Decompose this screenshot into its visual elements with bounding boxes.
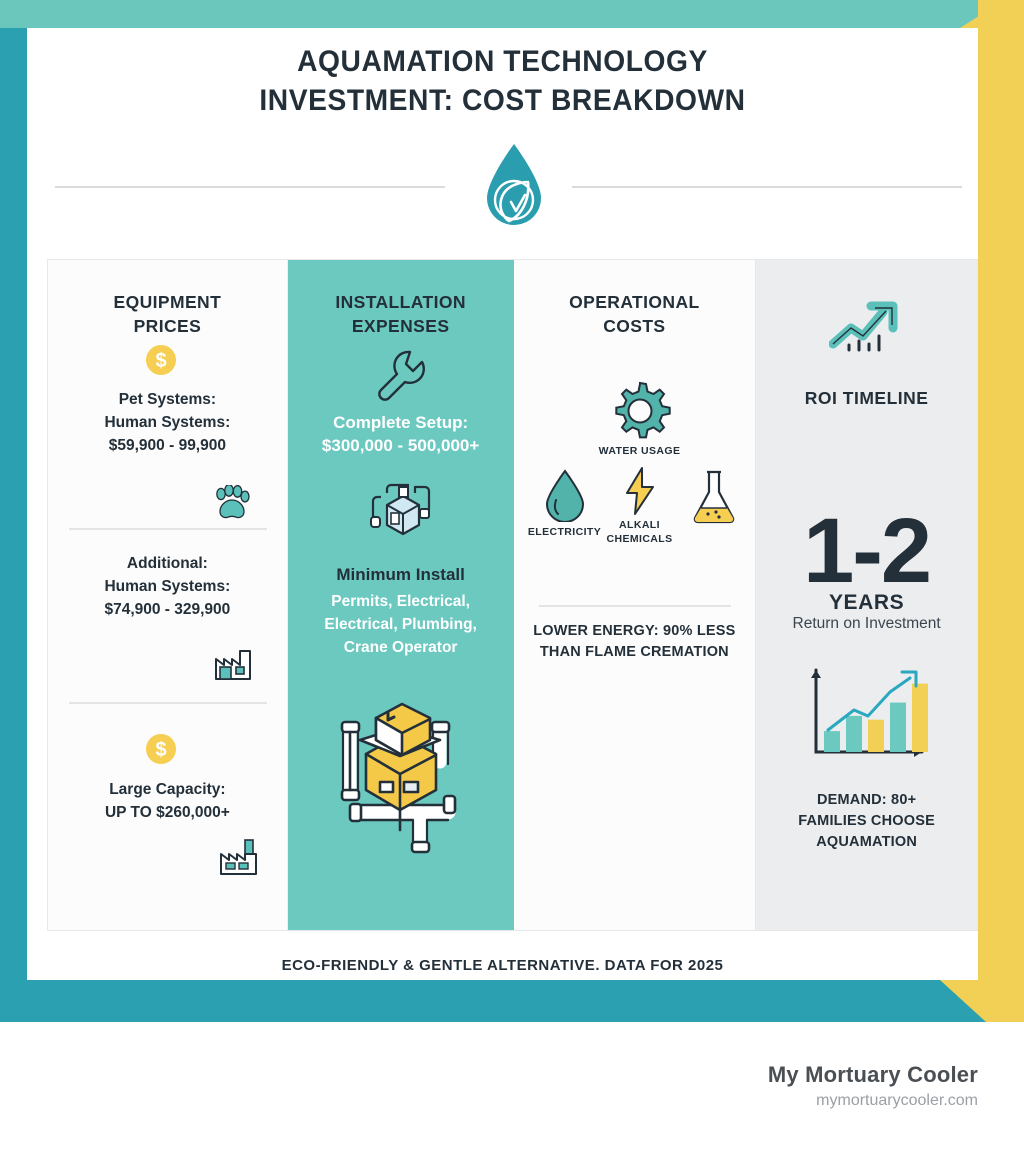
operational-separator (539, 605, 731, 607)
roi-stat-caption: Return on Investment (756, 615, 977, 633)
chart-bar (868, 720, 884, 752)
chart-bar (912, 684, 928, 752)
installation-setup-text: Complete Setup: $300,000 - 500,000+ (288, 411, 514, 457)
lightning-bolt-icon (622, 466, 658, 521)
equipment-block-2-text: Additional: Human Systems: $74,900 - 329… (48, 552, 287, 621)
gear-icon-label: WATER USAGE (577, 445, 703, 458)
roi-heading: ROI TIMELINE (756, 388, 977, 409)
factory-smokestack-icon (218, 838, 260, 881)
gear-icon (609, 380, 671, 447)
operational-note: LOWER ENERGY: 90% LESS THAN FLAME CREMAT… (514, 621, 756, 663)
frame-bottom-bar (0, 980, 978, 1022)
machine-setup-icon (363, 473, 439, 548)
infographic-root: AQUAMATION TECHNOLOGY INVESTMENT: COST B… (0, 0, 1024, 1154)
footer-note: ECO-FRIENDLY & GENTLE ALTERNATIVE. DATA … (27, 957, 978, 974)
chart-bar (824, 731, 840, 752)
brand-name: My Mortuary Cooler (768, 1062, 978, 1088)
flask-icon (688, 468, 740, 531)
lightning-bolt-icon-label: ALKALICHEMICALS (597, 518, 683, 546)
dollar-coin-icon: $ (144, 343, 178, 382)
paw-print-icon (212, 485, 252, 526)
factory-icon (212, 645, 254, 686)
page-title-line-2: INVESTMENT: COST BREAKDOWN (56, 81, 950, 120)
column-heading-equipment: EQUIPMENT PRICES (48, 290, 287, 338)
divider-right (572, 186, 962, 188)
wrench-icon (372, 346, 430, 407)
growth-arrow-icon (829, 300, 903, 361)
equipment-block-1-text: Pet Systems: Human Systems: $59,900 - 99… (48, 388, 287, 457)
chart-bar (846, 716, 862, 752)
column-roi-timeline: ROI TIMELINE 1-2 YEARS Return on Investm… (756, 260, 977, 930)
chart-bar (890, 703, 906, 752)
equipment-block-3-text: Large Capacity: UP TO $260,000+ (48, 778, 287, 824)
column-heading-operational: OPERATIONAL COSTS (514, 290, 756, 338)
frame-top-bar (0, 0, 994, 28)
column-installation-expenses: INSTALLATION EXPENSES Complete Setup: $3… (288, 260, 514, 930)
bar-chart-trend-icon (798, 664, 934, 777)
page-title: AQUAMATION TECHNOLOGY INVESTMENT: COST B… (56, 42, 950, 120)
column-operational-costs: OPERATIONAL COSTS WATER USAGE ELECTRICIT… (514, 260, 757, 930)
frame-bottom-right-diagonal (940, 980, 986, 1022)
equipment-separator-2 (69, 702, 267, 704)
frame-left-bar (0, 28, 27, 1022)
columns-container: EQUIPMENT PRICES $ Pet Systems: Human Sy… (47, 259, 978, 931)
dollar-coin-icon: $ (144, 732, 178, 771)
roi-stat-number: 1-2 (756, 505, 977, 597)
svg-text:$: $ (155, 350, 166, 372)
brand-block: My Mortuary Cooler mymortuarycooler.com (768, 1062, 978, 1110)
frame-right-bar (978, 0, 1024, 1022)
brand-url: mymortuarycooler.com (768, 1092, 978, 1110)
divider-left (55, 186, 445, 188)
roi-demand-note: DEMAND: 80+ FAMILIES CHOOSE AQUAMATION (756, 790, 977, 853)
column-equipment-prices: EQUIPMENT PRICES $ Pet Systems: Human Sy… (48, 260, 288, 930)
water-droplet-leaf-icon (483, 142, 545, 230)
roi-stat-unit: YEARS (756, 591, 977, 615)
svg-text:$: $ (155, 739, 166, 761)
page-title-line-1: AQUAMATION TECHNOLOGY (56, 42, 950, 81)
water-drop-icon (543, 468, 587, 527)
installation-minimum-title: Minimum Install (288, 563, 514, 586)
logo-divider-row (27, 142, 978, 230)
equipment-separator-1 (69, 528, 267, 530)
installation-minimum-list: Permits, Electrical, Electrical, Plumbin… (288, 590, 514, 659)
boxes-pipes-icon (328, 692, 476, 867)
water-drop-icon-label: ELECTRICITY (522, 526, 608, 539)
column-heading-installation: INSTALLATION EXPENSES (288, 290, 514, 338)
